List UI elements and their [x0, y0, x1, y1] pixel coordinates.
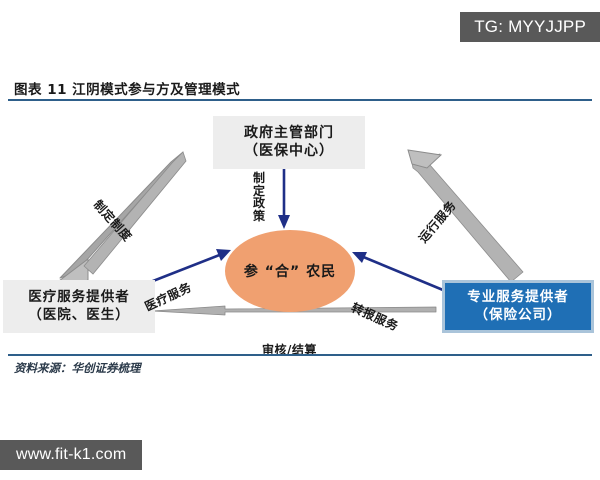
node-farmer-label: 参 “合” 农民: [244, 261, 336, 281]
node-government-line2: （医保中心）: [244, 143, 334, 161]
figure-rule-top: [8, 99, 592, 101]
arrow-claimservice-shape: [352, 252, 443, 290]
watermark-bottom-left: www.fit-k1.com: [0, 440, 142, 470]
diagram-canvas: 政府主管部门 （医保中心） 参 “合” 农民 医疗服务提供者 （医院、医生） 专…: [0, 102, 600, 354]
node-government-department[interactable]: 政府主管部门 （医保中心）: [213, 116, 365, 169]
arrow-label-policy: 制 定 政 策: [251, 172, 267, 222]
arrow-label-policy-char4: 策: [251, 210, 267, 223]
figure-rule-bottom: [8, 354, 592, 356]
node-hospital-line1: 医疗服务提供者: [28, 289, 130, 306]
arrow-label-policy-char1: 制: [251, 172, 267, 185]
node-government-line1: 政府主管部门: [244, 125, 334, 143]
figure-title: 图表 11 江阴模式参与方及管理模式: [14, 78, 240, 98]
node-medical-service-provider[interactable]: 医疗服务提供者 （医院、医生）: [3, 280, 155, 333]
node-professional-service-provider[interactable]: 专业服务提供者 （保险公司）: [442, 280, 594, 333]
node-insurer-line1: 专业服务提供者: [467, 289, 569, 306]
figure-block: 图表 11 江阴模式参与方及管理模式: [0, 78, 600, 403]
arrow-label-policy-char3: 政: [251, 197, 267, 210]
node-hospital-line2: （医院、医生）: [28, 307, 130, 324]
figure-source: 资料来源：华创证券梳理: [14, 360, 141, 376]
node-insurer-line2: （保险公司）: [475, 307, 562, 324]
watermark-top-right: TG: MYYJJPP: [460, 12, 600, 42]
node-participating-farmers[interactable]: 参 “合” 农民: [225, 230, 355, 312]
arrow-operate-shape: [408, 150, 523, 282]
